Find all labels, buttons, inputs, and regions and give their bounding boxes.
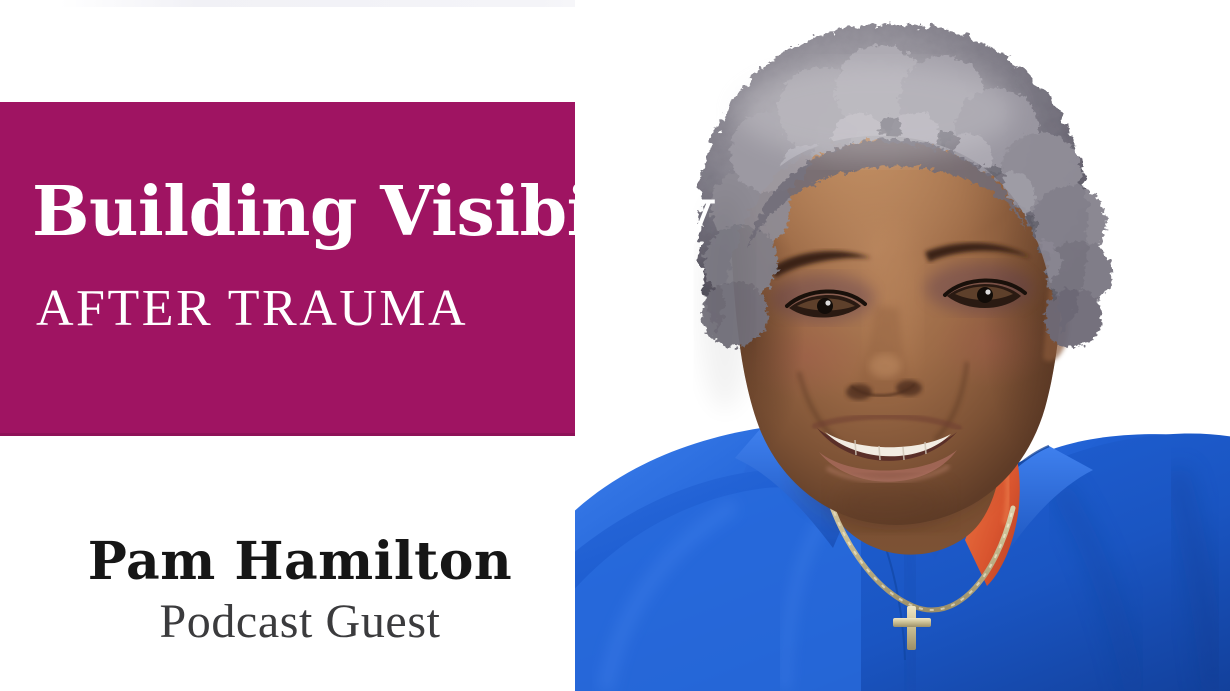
podcast-guest-graphic: Building Visibility AFTER TRAUMA: [0, 0, 1230, 691]
guest-name-block: Pam Hamilton Podcast Guest: [0, 534, 600, 649]
banner-subtitle: AFTER TRAUMA: [36, 283, 468, 335]
guest-role: Podcast Guest: [0, 595, 600, 649]
guest-name: Pam Hamilton: [0, 534, 600, 589]
guest-portrait-photo: [575, 0, 1230, 691]
banner-title: Building Visibility: [32, 178, 713, 246]
